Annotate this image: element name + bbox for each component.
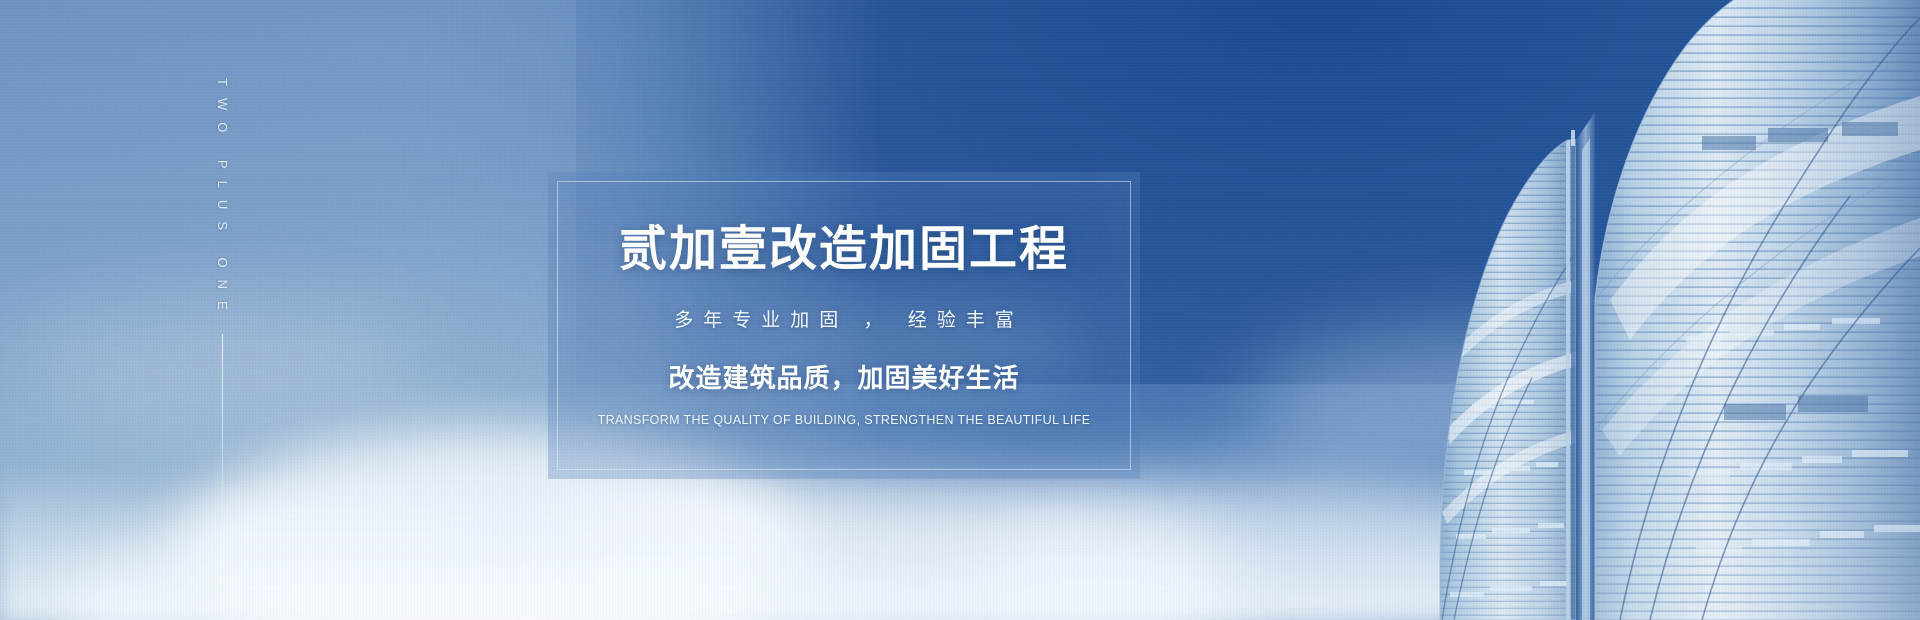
headline-subtitle: 多年专业加固 ， 经验丰富 [664,305,1024,332]
skyscraper-photo [1090,0,1920,620]
panel-content: 贰加壹改造加固工程 多年专业加固 ， 经验丰富 改造建筑品质，加固美好生活 TR… [548,172,1140,479]
vertical-rule [222,334,223,549]
hero-banner: TWO PLUS ONE 贰加壹改造加固工程 多年专业加固 ， 经验丰富 改造建… [0,0,1920,620]
headline-title: 贰加壹改造加固工程 [619,224,1069,276]
headline-english-slogan: TRANSFORM THE QUALITY OF BUILDING, STREN… [598,413,1091,427]
vertical-brand-text: TWO PLUS ONE [215,78,230,322]
headline-tagline: 改造建筑品质，加固美好生活 [668,358,1019,395]
headline-panel: 贰加壹改造加固工程 多年专业加固 ， 经验丰富 改造建筑品质，加固美好生活 TR… [548,172,1140,479]
vertical-brand: TWO PLUS ONE [215,78,230,549]
